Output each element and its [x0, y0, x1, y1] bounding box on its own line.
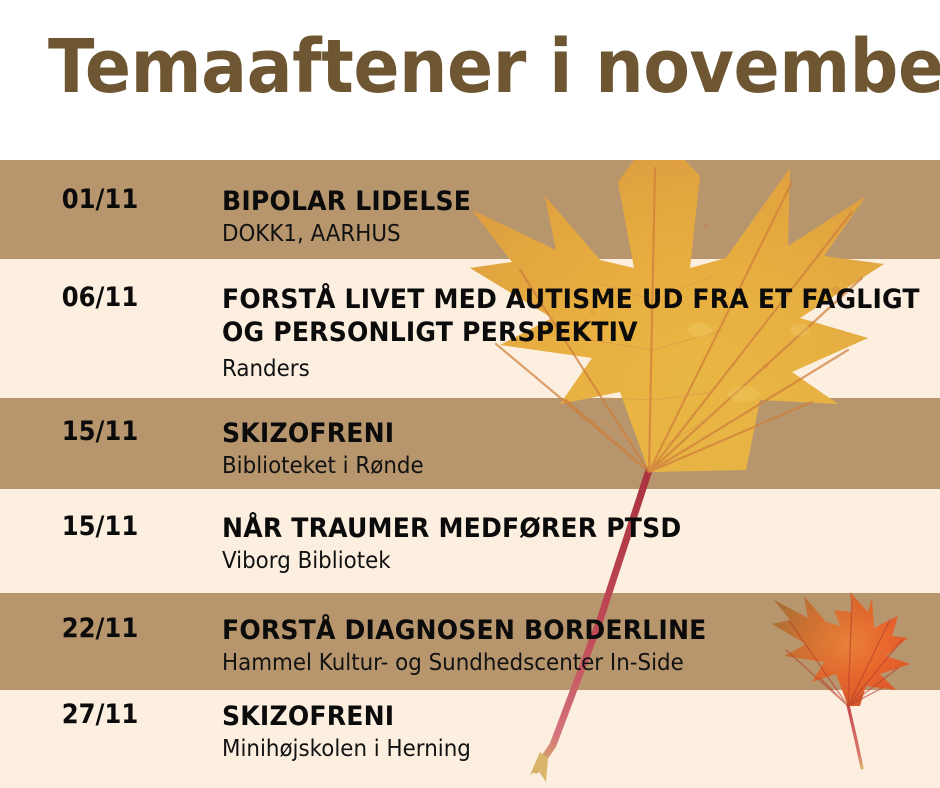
event-title: SKIZOFRENI [222, 700, 873, 733]
event-date: 01/11 [10, 185, 190, 215]
event-title: SKIZOFRENI [222, 417, 873, 450]
event-body: FORSTÅ LIVET MED AUTISME UD FRA ET FAGLI… [222, 283, 940, 384]
event-date: 06/11 [10, 283, 190, 313]
poster-canvas: Temaaftener i november 01/11 BIPOLAR LID… [0, 0, 940, 788]
event-date: 15/11 [10, 512, 190, 542]
event-body: SKIZOFRENI Minihøjskolen i Herning [222, 700, 922, 764]
event-title: BIPOLAR LIDELSE [222, 185, 873, 218]
event-body: SKIZOFRENI Biblioteket i Rønde [222, 417, 922, 481]
event-venue: Hammel Kultur- og Sundhedscenter In-Side [222, 649, 873, 678]
event-title: NÅR TRAUMER MEDFØRER PTSD [222, 512, 873, 545]
title-area: Temaaftener i november [0, 0, 940, 160]
event-body: FORSTÅ DIAGNOSEN BORDERLINE Hammel Kultu… [222, 614, 922, 678]
event-date: 22/11 [10, 614, 190, 644]
event-title: FORSTÅ DIAGNOSEN BORDERLINE [222, 614, 873, 647]
page-title: Temaaftener i november [48, 22, 940, 112]
event-body: NÅR TRAUMER MEDFØRER PTSD Viborg Bibliot… [222, 512, 922, 576]
event-body: BIPOLAR LIDELSE DOKK1, AARHUS [222, 185, 922, 249]
event-venue: DOKK1, AARHUS [222, 220, 873, 249]
event-title: FORSTÅ LIVET MED AUTISME UD FRA ET FAGLI… [222, 283, 929, 349]
event-venue: Randers [222, 355, 940, 384]
event-date: 15/11 [10, 417, 190, 447]
event-venue: Minihøjskolen i Herning [222, 735, 873, 764]
event-date: 27/11 [10, 700, 190, 730]
event-venue: Biblioteket i Rønde [222, 452, 873, 481]
event-venue: Viborg Bibliotek [222, 547, 873, 576]
